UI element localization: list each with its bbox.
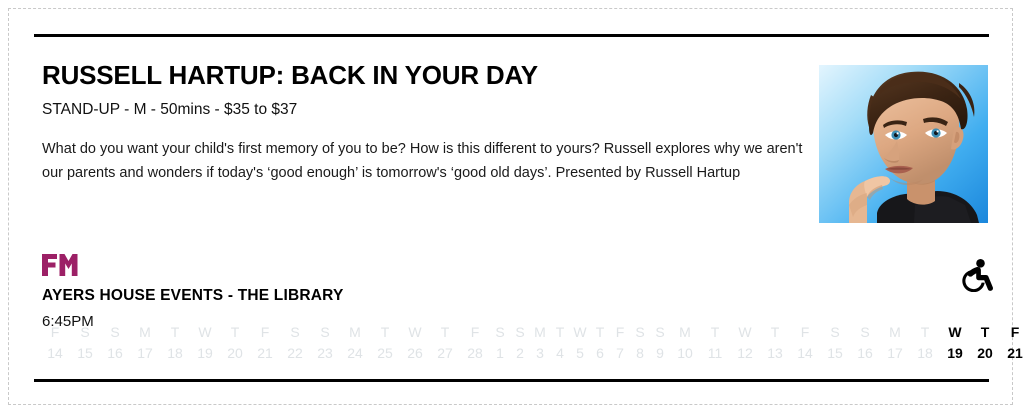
calendar-date-number: 8 (636, 342, 644, 364)
calendar-date-number: 28 (467, 342, 483, 364)
calendar-day-of-week: W (198, 322, 211, 342)
calendar-day-of-week: F (616, 322, 625, 342)
calendar-date-number: 1 (496, 342, 504, 364)
calendar-day-22: S22 (280, 322, 310, 364)
calendar-date-number: 27 (437, 342, 453, 364)
performer-photo (819, 65, 988, 223)
event-listing-card: RUSSELL HARTUP: BACK IN YOUR DAY STAND-U… (34, 34, 989, 380)
calendar-day-of-week: M (679, 322, 691, 342)
calendar-date-number: 16 (107, 342, 123, 364)
calendar-day-of-week: S (80, 322, 89, 342)
calendar-day-of-week: F (51, 322, 60, 342)
calendar-day-19: W19 (190, 322, 220, 364)
calendar-date-number: 22 (287, 342, 303, 364)
calendar-day-of-week: S (635, 322, 644, 342)
calendar-day-25: T25 (370, 322, 400, 364)
calendar-date-number: 9 (656, 342, 664, 364)
calendar-day-9: S9 (650, 322, 670, 364)
calendar-day-16: S16 (100, 322, 130, 364)
calendar-day-of-week: W (738, 322, 751, 342)
calendar-date-number: 19 (197, 342, 213, 364)
calendar-day-of-week: S (655, 322, 664, 342)
calendar-date-number: 23 (317, 342, 333, 364)
calendar-date-number: 15 (827, 342, 843, 364)
calendar-day-26: W26 (400, 322, 430, 364)
calendar-date-number: 14 (797, 342, 813, 364)
calendar-date-number: 15 (77, 342, 93, 364)
calendar-day-13: T13 (760, 322, 790, 364)
calendar-date-number: 21 (257, 342, 273, 364)
calendar-day-28: F28 (460, 322, 490, 364)
calendar-date-number: 25 (377, 342, 393, 364)
divider-bottom (34, 379, 989, 382)
calendar-day-of-week: F (1011, 322, 1020, 342)
calendar-day-15: S15 (70, 322, 100, 364)
page-boundary: RUSSELL HARTUP: BACK IN YOUR DAY STAND-U… (8, 8, 1013, 405)
calendar-date-number: 19 (947, 342, 963, 364)
calendar-day-of-week: S (320, 322, 329, 342)
venue-name: AYERS HOUSE EVENTS - THE LIBRARY (42, 287, 344, 305)
calendar-day-of-week: S (110, 322, 119, 342)
calendar-day-27: T27 (430, 322, 460, 364)
calendar-day-23: S23 (310, 322, 340, 364)
calendar-date-number: 18 (167, 342, 183, 364)
calendar-day-18: T18 (910, 322, 940, 364)
calendar-day-of-week: T (981, 322, 990, 342)
calendar-date-number: 7 (616, 342, 624, 364)
performance-dates-calendar[interactable]: F14S15S16M17T18W19T20F21S22S23M24T25W26T… (40, 322, 989, 370)
event-description: What do you want your child's first memo… (42, 137, 824, 185)
calendar-day-of-week: F (471, 322, 480, 342)
calendar-day-15: S15 (820, 322, 850, 364)
calendar-day-6: T6 (590, 322, 610, 364)
calendar-day-of-week: T (381, 322, 390, 342)
calendar-day-10: M10 (670, 322, 700, 364)
calendar-date-number: 4 (556, 342, 564, 364)
calendar-day-of-week: S (830, 322, 839, 342)
calendar-day-5: W5 (570, 322, 590, 364)
calendar-date-number: 26 (407, 342, 423, 364)
calendar-date-number: 21 (1007, 342, 1023, 364)
calendar-date-number: 6 (596, 342, 604, 364)
calendar-date-number: 18 (917, 342, 933, 364)
calendar-date-number: 17 (887, 342, 903, 364)
calendar-day-of-week: T (921, 322, 930, 342)
wheelchair-accessible-icon (959, 258, 993, 292)
calendar-day-24: M24 (340, 322, 370, 364)
calendar-date-number: 14 (47, 342, 63, 364)
calendar-day-of-week: T (171, 322, 180, 342)
calendar-day-of-week: W (573, 322, 586, 342)
calendar-day-14: F14 (790, 322, 820, 364)
calendar-date-number: 11 (708, 342, 723, 364)
calendar-day-20[interactable]: T20 (970, 322, 1000, 364)
calendar-day-14: F14 (40, 322, 70, 364)
calendar-day-4: T4 (550, 322, 570, 364)
calendar-day-of-week: T (596, 322, 605, 342)
calendar-date-number: 12 (737, 342, 753, 364)
calendar-date-number: 16 (857, 342, 873, 364)
calendar-day-1: S1 (490, 322, 510, 364)
calendar-day-7: F7 (610, 322, 630, 364)
event-meta-line: STAND-UP - M - 50mins - $35 to $37 (42, 100, 822, 120)
calendar-date-number: 20 (977, 342, 993, 364)
calendar-day-8: S8 (630, 322, 650, 364)
calendar-day-of-week: T (231, 322, 240, 342)
calendar-day-of-week: W (948, 322, 961, 342)
calendar-day-of-week: T (556, 322, 565, 342)
calendar-day-17: M17 (130, 322, 160, 364)
calendar-day-of-week: F (801, 322, 810, 342)
divider-top (34, 34, 989, 37)
calendar-date-number: 17 (137, 342, 153, 364)
calendar-date-number: 5 (576, 342, 584, 364)
calendar-day-12: W12 (730, 322, 760, 364)
calendar-day-17: M17 (880, 322, 910, 364)
calendar-day-11: T11 (700, 322, 730, 364)
calendar-day-18: T18 (160, 322, 190, 364)
calendar-day-2: S2 (510, 322, 530, 364)
calendar-date-number: 10 (677, 342, 693, 364)
calendar-day-19[interactable]: W19 (940, 322, 970, 364)
calendar-day-of-week: T (441, 322, 450, 342)
calendar-day-of-week: S (515, 322, 524, 342)
calendar-day-of-week: M (534, 322, 546, 342)
calendar-date-number: 2 (516, 342, 524, 364)
calendar-day-21[interactable]: F21 (1000, 322, 1023, 364)
calendar-day-of-week: T (771, 322, 780, 342)
calendar-day-of-week: M (349, 322, 361, 342)
calendar-day-16: S16 (850, 322, 880, 364)
calendar-day-20: T20 (220, 322, 250, 364)
calendar-day-of-week: S (290, 322, 299, 342)
calendar-day-3: M3 (530, 322, 550, 364)
calendar-day-21: F21 (250, 322, 280, 364)
calendar-day-of-week: F (261, 322, 270, 342)
event-title: RUSSELL HARTUP: BACK IN YOUR DAY (42, 60, 822, 90)
calendar-day-of-week: M (889, 322, 901, 342)
calendar-date-number: 3 (536, 342, 544, 364)
event-text-column: RUSSELL HARTUP: BACK IN YOUR DAY STAND-U… (42, 60, 822, 185)
calendar-day-of-week: S (860, 322, 869, 342)
calendar-day-of-week: W (408, 322, 421, 342)
calendar-day-of-week: T (711, 322, 720, 342)
calendar-date-number: 24 (347, 342, 363, 364)
calendar-day-of-week: S (495, 322, 504, 342)
calendar-date-number: 20 (227, 342, 243, 364)
calendar-day-of-week: M (139, 322, 151, 342)
fm-provider-logo-icon (42, 254, 78, 276)
calendar-date-number: 13 (767, 342, 783, 364)
